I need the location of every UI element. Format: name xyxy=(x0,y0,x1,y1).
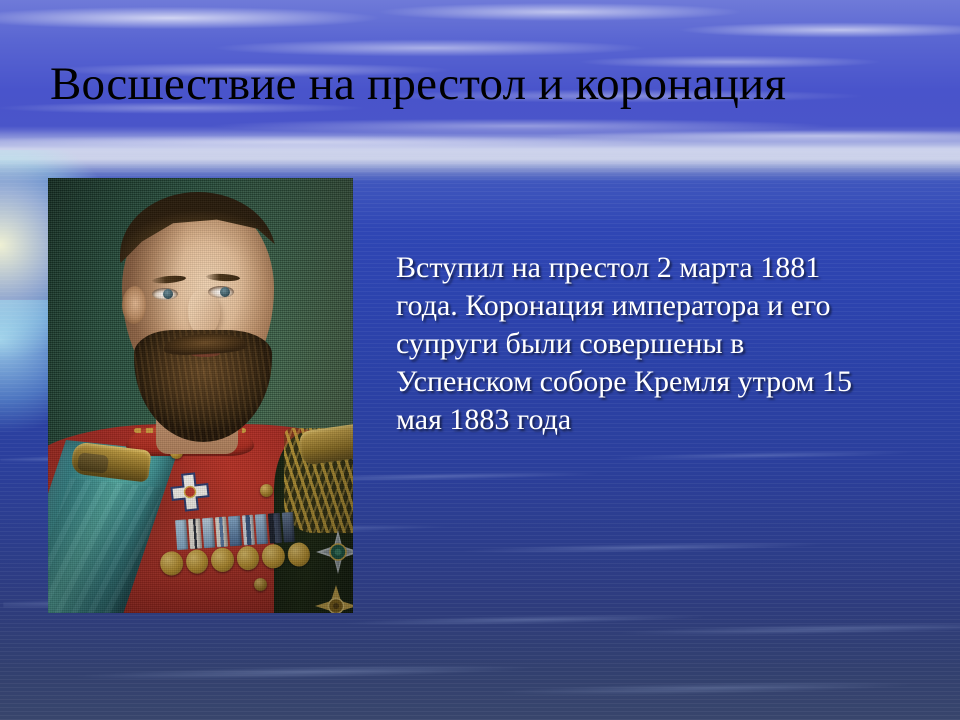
presentation-slide: Восшествие на престол и коронация xyxy=(0,0,960,720)
portrait-vignette xyxy=(48,178,353,613)
portrait-image xyxy=(48,178,353,613)
body-line: супруги были совершены в xyxy=(396,325,868,363)
body-line: Успенском соборе Кремля утром 15 xyxy=(396,363,868,401)
slide-body-text: Вступил на престол 2 марта 1881 года. Ко… xyxy=(396,249,868,439)
body-line: мая 1883 года xyxy=(396,401,868,439)
body-line: года. Коронация императора и его xyxy=(396,287,868,325)
slide-title: Восшествие на престол и коронация xyxy=(50,60,920,110)
body-line: Вступил на престол 2 марта 1881 xyxy=(396,249,868,287)
